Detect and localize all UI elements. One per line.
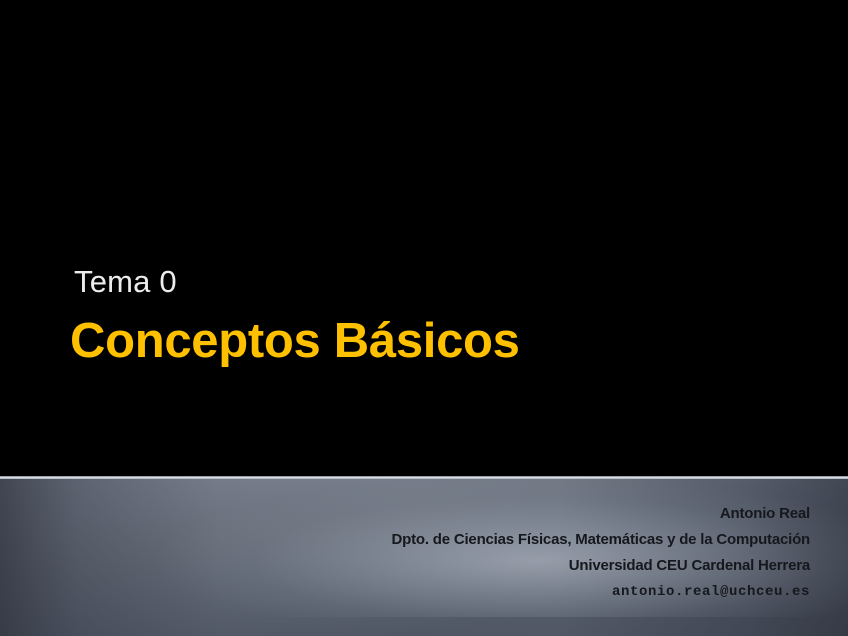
byline-author: Antonio Real	[391, 501, 810, 527]
byline-department: Dpto. de Ciencias Físicas, Matemáticas y…	[391, 527, 810, 553]
slide-eyebrow-text: Tema 0	[74, 266, 177, 299]
slide-title-area: Tema 0 Conceptos Básicos	[0, 0, 848, 477]
byline: Antonio Real Dpto. de Ciencias Físicas, …	[391, 501, 810, 606]
byline-email: antonio.real@uchceu.es	[391, 579, 810, 606]
slide-title-text: Conceptos Básicos	[70, 316, 520, 368]
byline-institution: Universidad CEU Cardenal Herrera	[391, 553, 810, 579]
slide-footer-panel: Antonio Real Dpto. de Ciencias Físicas, …	[0, 479, 848, 636]
presentation-slide: Tema 0 Conceptos Básicos Antonio Real Dp…	[0, 0, 848, 636]
